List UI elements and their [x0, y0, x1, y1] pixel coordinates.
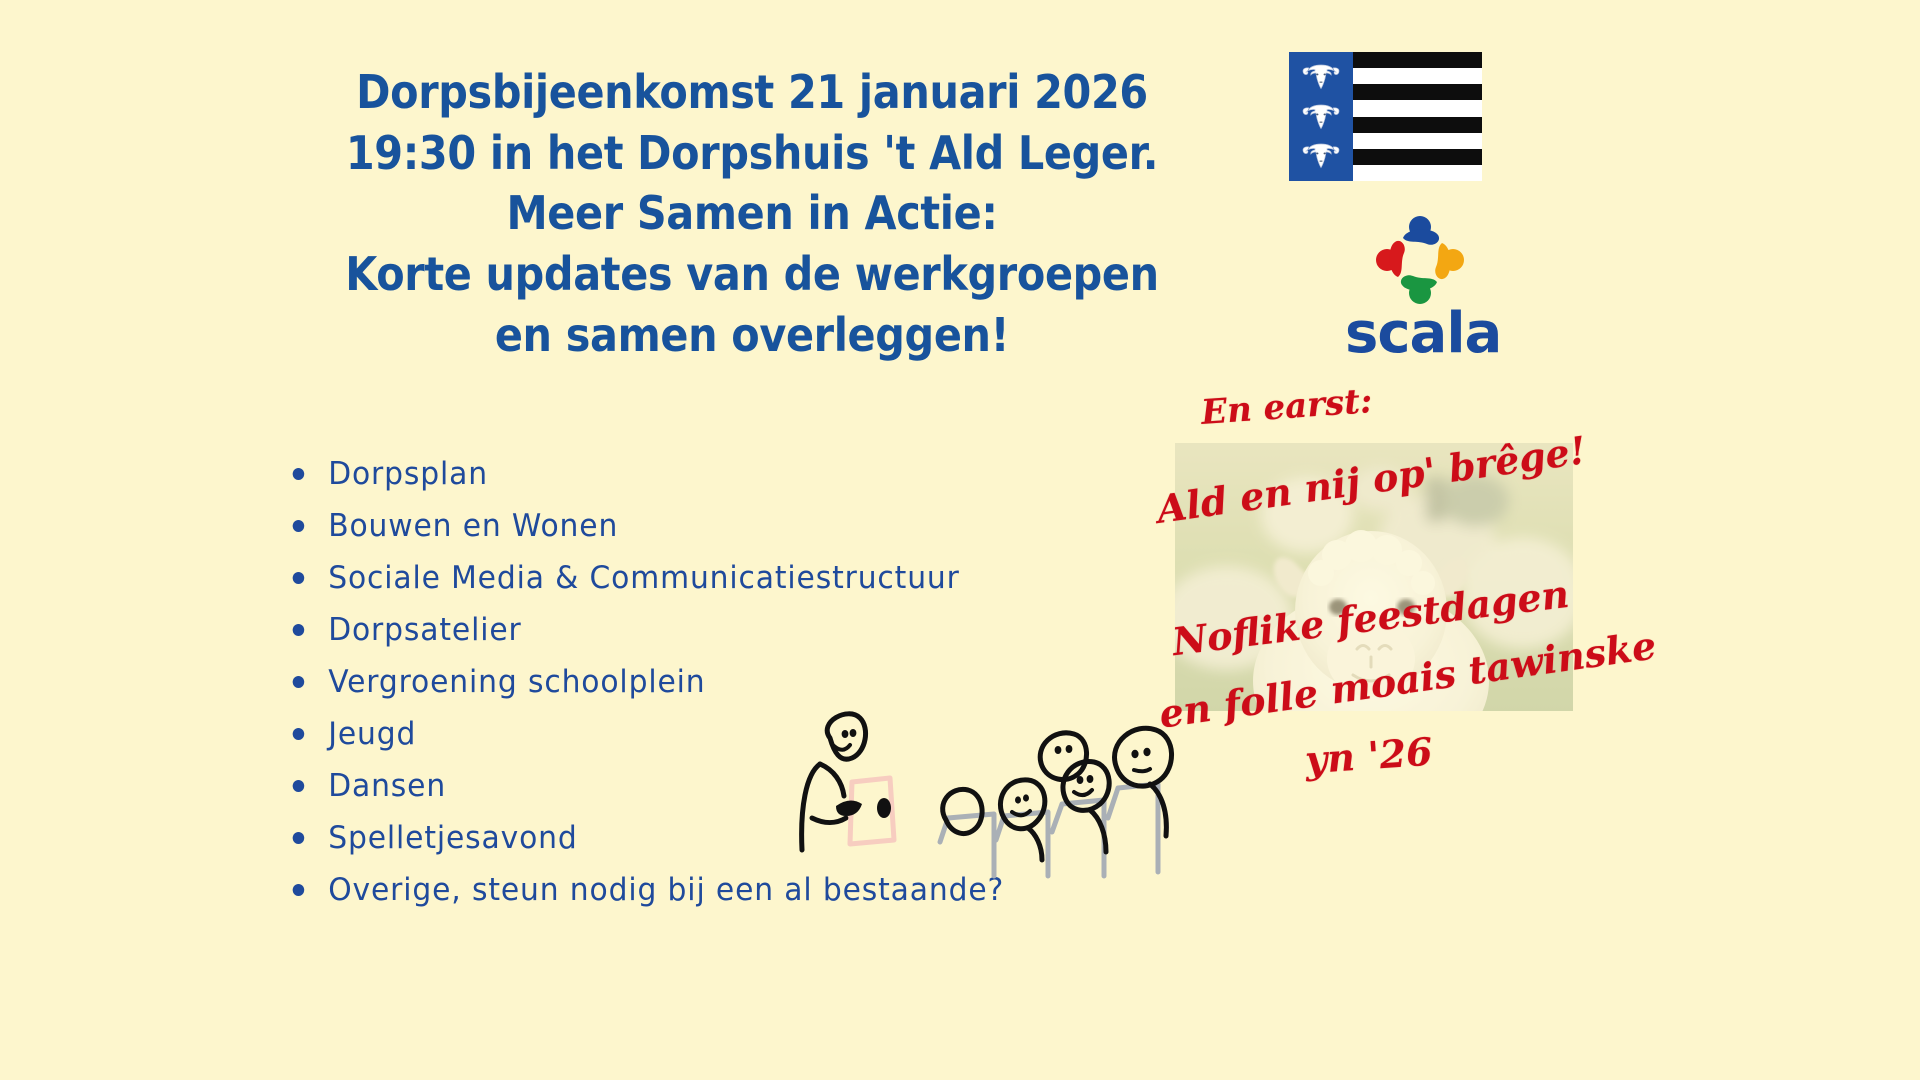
list-item: Sociale Media & Communicatiestructuur	[285, 552, 1004, 604]
agenda-item-label: Jeugd	[328, 716, 416, 752]
meeting-sketch-artwork	[790, 700, 1210, 880]
scala-logo: scala	[1345, 210, 1495, 362]
flag-stripe	[1353, 165, 1482, 181]
flag-stripe	[1353, 117, 1482, 133]
title-line-3: Meer Samen in Actie:	[284, 183, 1220, 244]
flag-stripe	[1353, 68, 1482, 84]
agenda-item-label: Sociale Media & Communicatiestructuur	[328, 560, 960, 596]
agenda-item-label: Vergroening schoolplein	[328, 664, 705, 700]
ram-head-icon	[1301, 141, 1341, 171]
poster-canvas: Dorpsbijeenkomst 21 januari 2026 19:30 i…	[0, 0, 1920, 1080]
page-title: Dorpsbijeenkomst 21 januari 2026 19:30 i…	[284, 62, 1220, 366]
ram-head-icon	[1301, 62, 1341, 92]
flag-hoist-panel	[1289, 52, 1353, 181]
agenda-item-label: Bouwen en Wonen	[328, 508, 618, 544]
agenda-item-label: Dansen	[328, 768, 446, 804]
agenda-item-label: Dorpsplan	[328, 456, 488, 492]
list-item: Bouwen en Wonen	[285, 500, 1004, 552]
flag-stripe-panel	[1353, 52, 1482, 181]
frisian-greeting-card: En earst: Ald en nij op' brêge! Noflike …	[1165, 395, 1575, 815]
scala-circle-of-people-icon	[1368, 210, 1472, 310]
title-line-5: en samen overleggen!	[284, 305, 1220, 366]
title-line-1: Dorpsbijeenkomst 21 januari 2026	[284, 62, 1220, 123]
flag-stripe	[1353, 133, 1482, 149]
title-line-4: Korte updates van de werkgroepen	[284, 244, 1220, 305]
ram-head-icon	[1301, 102, 1341, 132]
flag-stripe	[1353, 84, 1482, 100]
greeting-line-1: En earst:	[1200, 381, 1374, 433]
agenda-item-label: Dorpsatelier	[328, 612, 521, 648]
flag-stripe	[1353, 149, 1482, 165]
greeting-line-5: yn '26	[1304, 729, 1434, 783]
meeting-illustration	[790, 700, 1210, 880]
flag-stripe	[1353, 52, 1482, 68]
list-item: Dorpsplan	[285, 448, 1004, 500]
village-flag	[1289, 52, 1482, 181]
agenda-item-label: Spelletjesavond	[328, 820, 577, 856]
flag-stripe	[1353, 100, 1482, 116]
title-line-2: 19:30 in het Dorpshuis 't Ald Leger.	[284, 123, 1220, 184]
list-item: Dorpsatelier	[285, 604, 1004, 656]
scala-wordmark: scala	[1345, 306, 1495, 362]
